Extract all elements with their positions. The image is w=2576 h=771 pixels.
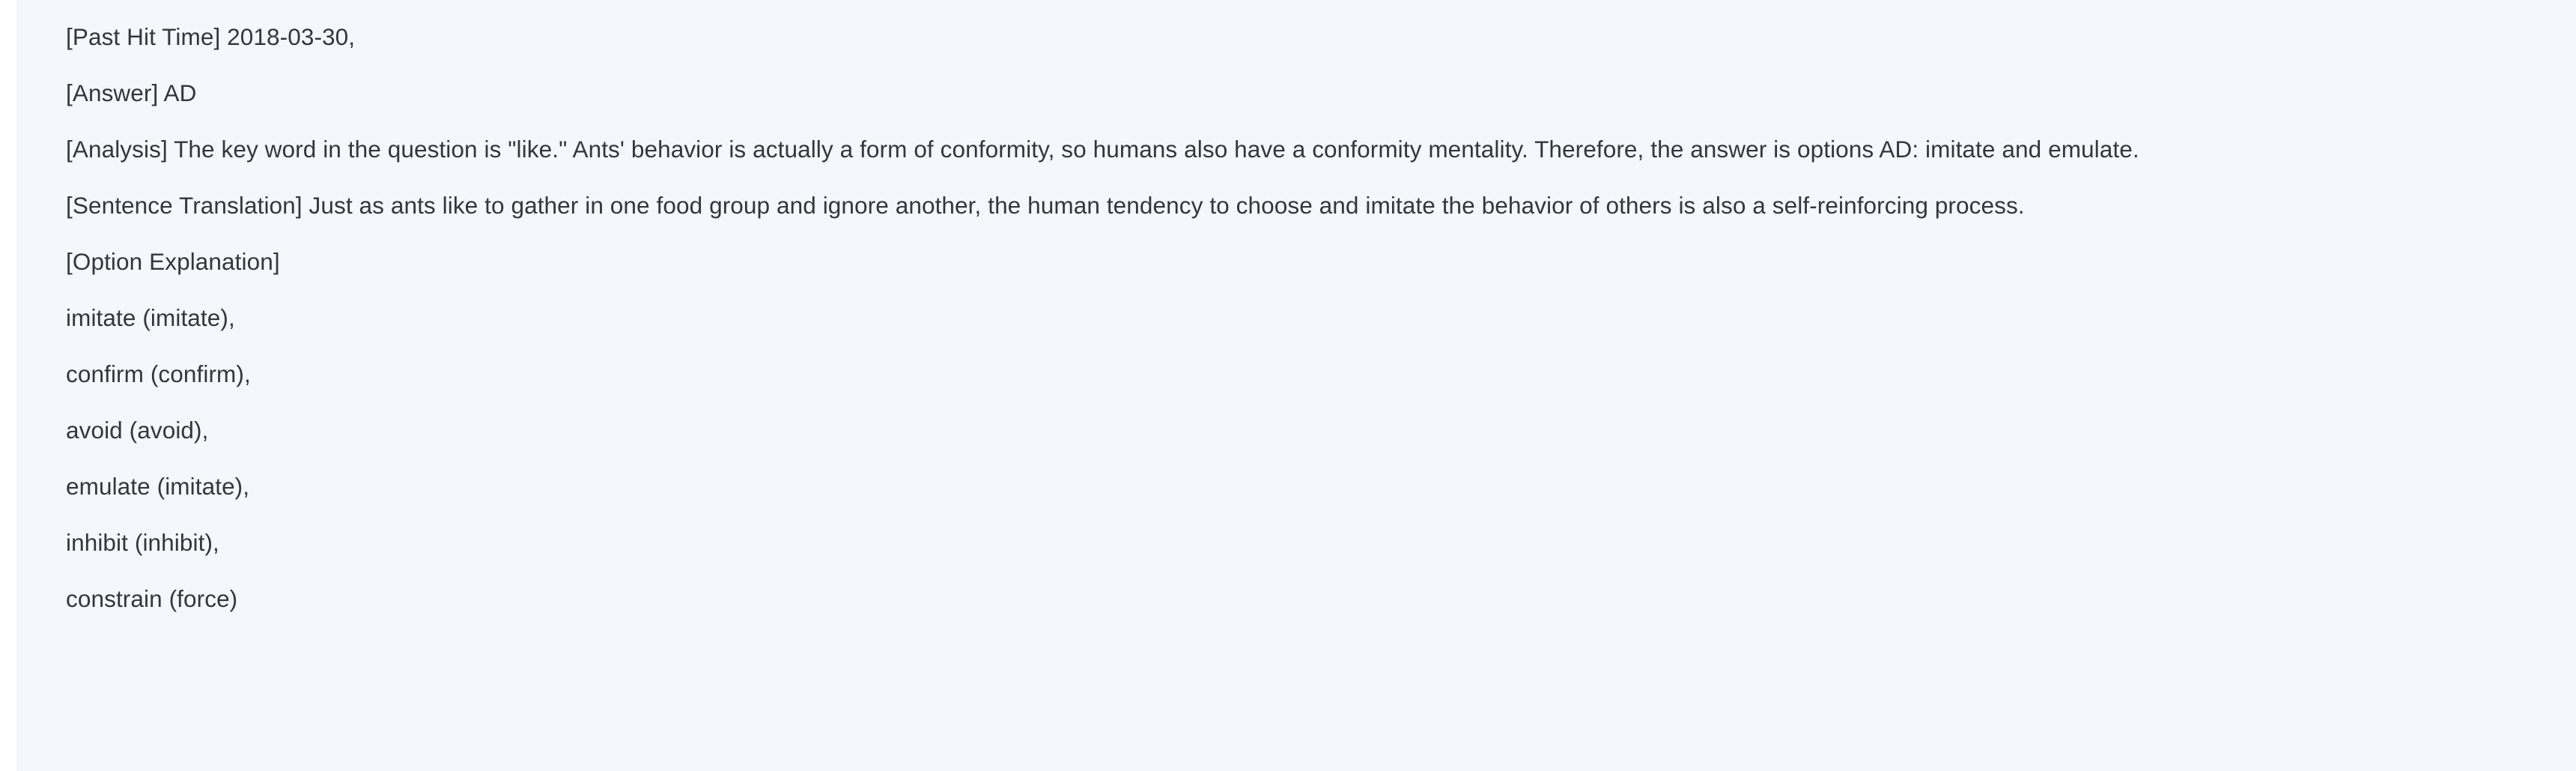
analysis-paragraph: [Analysis] The key word in the question … [66, 121, 2576, 178]
answer-line: [Answer] AD [66, 65, 2576, 121]
screenshot-root: [Past Hit Time] 2018-03-30, [Answer] AD … [0, 0, 2576, 771]
option-explanation-heading: [Option Explanation] [66, 234, 2576, 290]
option-item-confirm: confirm (confirm), [66, 346, 2576, 402]
option-item-inhibit: inhibit (inhibit), [66, 515, 2576, 571]
option-item-constrain: constrain (force) [66, 571, 2576, 627]
option-item-avoid: avoid (avoid), [66, 402, 2576, 459]
option-item-emulate: emulate (imitate), [66, 459, 2576, 515]
explanation-text-body: [Past Hit Time] 2018-03-30, [Answer] AD … [66, 9, 2576, 627]
past-hit-time-line: [Past Hit Time] 2018-03-30, [66, 9, 2576, 65]
sentence-translation-paragraph: [Sentence Translation] Just as ants like… [66, 178, 2576, 234]
explanation-panel: [Past Hit Time] 2018-03-30, [Answer] AD … [16, 0, 2576, 771]
option-item-imitate: imitate (imitate), [66, 290, 2576, 346]
